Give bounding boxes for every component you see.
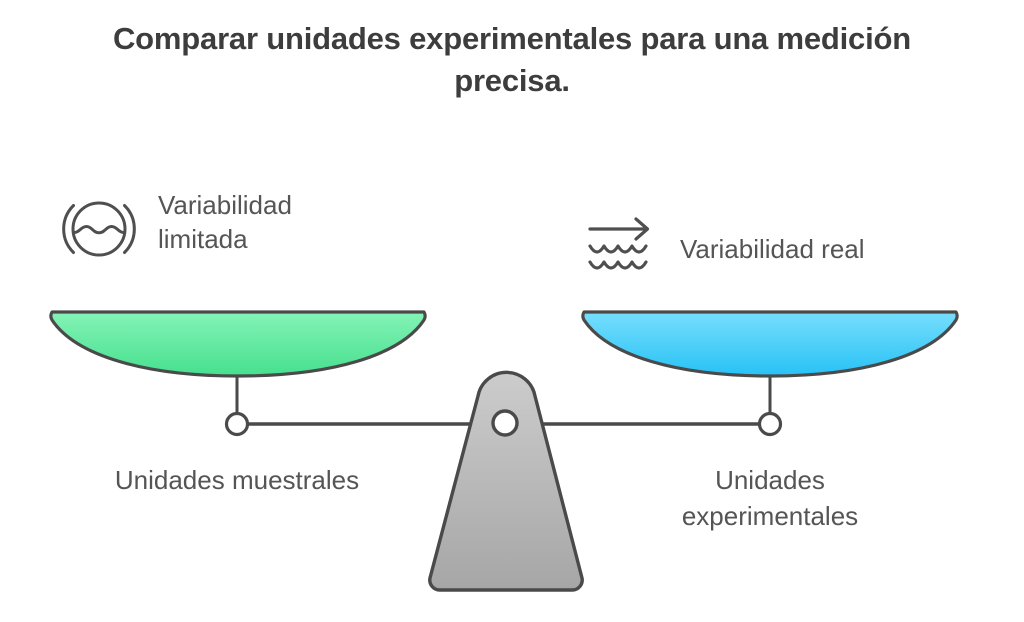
fulcrum — [430, 372, 582, 590]
infographic-canvas: Comparar unidades experimentales para un… — [0, 0, 1024, 622]
right-hanger-ring — [760, 414, 781, 435]
left-pan-caption: Unidades muestrales — [47, 462, 427, 498]
pivot-hole — [493, 411, 517, 435]
right-pan — [583, 312, 957, 376]
left-pan — [51, 312, 425, 376]
left-hanger-ring — [227, 414, 248, 435]
right-pan-caption: Unidades experimentales — [590, 462, 950, 534]
